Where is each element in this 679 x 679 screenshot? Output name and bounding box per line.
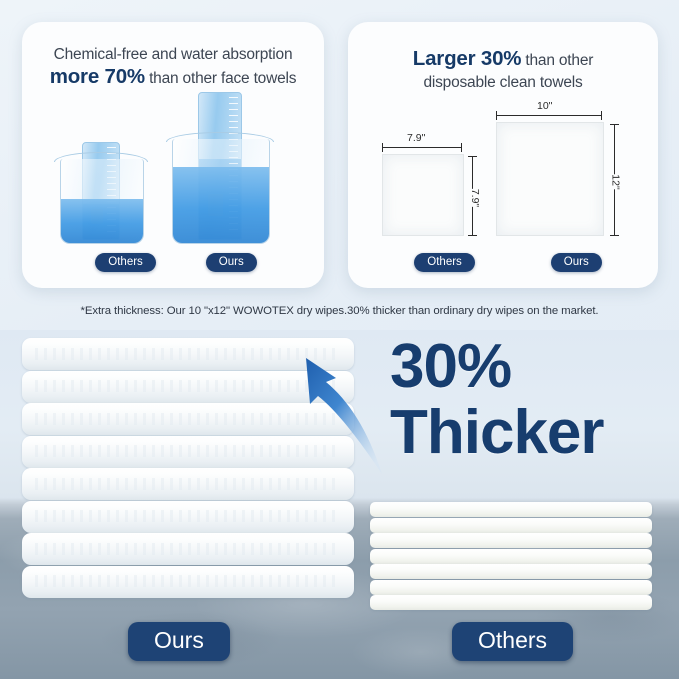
ours-height-label: 12"	[610, 174, 622, 189]
others-towel-layer	[370, 518, 652, 533]
ours-beaker-water	[173, 167, 269, 243]
thickness-arrow-icon	[296, 348, 386, 478]
extra-thickness-footnote: *Extra thickness: Our 10 "x12" WOWOTEX d…	[0, 305, 679, 317]
others-towel-layer	[370, 564, 652, 579]
absorption-comparison-card: Chemical-free and water absorption more …	[22, 22, 324, 288]
ours-towel-layer	[22, 533, 354, 565]
absorption-heading-line1: Chemical-free and water absorption	[54, 46, 293, 63]
thickness-scene: 30% Thicker Ours Others	[0, 330, 679, 679]
thicker-headline: 30% Thicker	[390, 336, 670, 464]
others-towel-layer	[370, 580, 652, 595]
absorption-badge-row: Others Ours	[22, 253, 324, 272]
badge-others-absorption: Others	[95, 253, 156, 272]
beaker-illustration	[22, 84, 324, 244]
absorption-heading: Chemical-free and water absorption more …	[22, 44, 324, 89]
ours-towel-layer	[22, 501, 354, 533]
others-width-label: 7.9"	[404, 132, 428, 144]
size-heading-rest: than other	[525, 52, 593, 69]
ours-beaker-glass	[172, 139, 270, 244]
others-beaker	[60, 140, 142, 244]
others-beaker-glass	[60, 159, 144, 244]
size-heading-line2: disposable clean towels	[348, 72, 658, 93]
ours-width-dimension-line	[496, 115, 602, 116]
size-illustration: 7.9" 7.9" 10" 12"	[348, 110, 658, 244]
badge-others-size: Others	[414, 253, 475, 272]
badge-others-bottom: Others	[452, 622, 573, 661]
others-towel-swatch	[382, 154, 464, 236]
ours-beaker	[172, 92, 268, 244]
others-towel-layer	[370, 595, 652, 610]
product-infographic: Chemical-free and water absorption more …	[0, 0, 679, 679]
headline-thicker: Thicker	[390, 402, 670, 464]
others-beaker-rim	[54, 152, 148, 162]
others-width-dimension-line	[382, 147, 462, 148]
ours-width-label: 10"	[534, 100, 555, 112]
badge-ours-bottom: Ours	[128, 622, 230, 661]
others-towel-layer	[370, 549, 652, 564]
size-comparison-card: Larger 30% than other disposable clean t…	[348, 22, 658, 288]
ours-towel-layer	[22, 566, 354, 598]
size-heading-accent: Larger 30%	[413, 47, 522, 70]
others-height-label: 7.9"	[469, 189, 481, 207]
ours-towel-swatch	[496, 122, 604, 236]
others-towel-stack	[370, 502, 652, 611]
headline-percent: 30%	[390, 336, 670, 398]
ours-beaker-rim	[166, 132, 274, 142]
others-beaker-water	[61, 199, 143, 243]
size-heading: Larger 30% than other disposable clean t…	[348, 48, 658, 93]
others-towel-layer	[370, 502, 652, 517]
size-badge-row: Others Ours	[348, 253, 658, 272]
badge-ours-absorption: Ours	[206, 253, 257, 272]
others-towel-layer	[370, 533, 652, 548]
badge-ours-size: Ours	[551, 253, 602, 272]
